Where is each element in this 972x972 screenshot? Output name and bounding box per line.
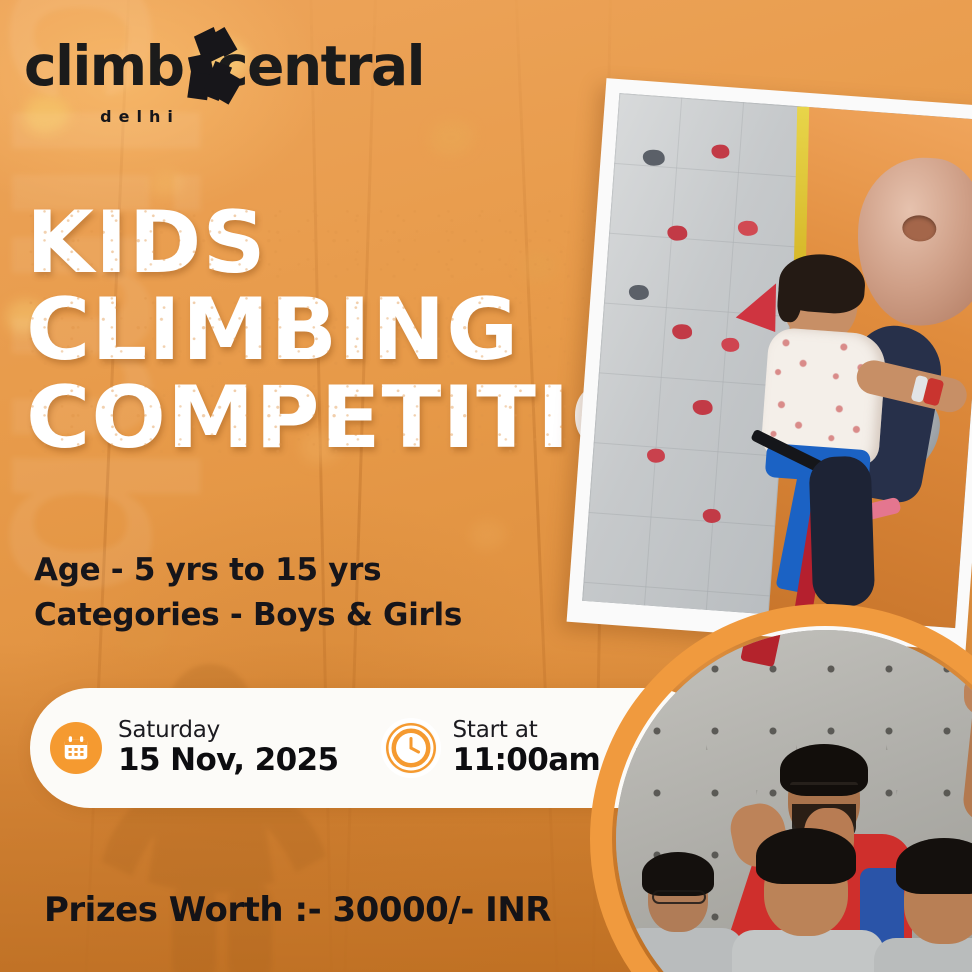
info-block-date: Saturday 15 Nov, 2025 <box>50 718 339 778</box>
prizes-text: Prizes Worth :- 30000/- INR <box>44 890 551 930</box>
kid-shirt <box>620 928 744 972</box>
logo-word-central: central <box>216 39 424 94</box>
photo2-kid <box>620 850 740 972</box>
photo-kids-group-image: akriti <box>616 630 972 972</box>
photo-child-climbing-wall <box>567 78 972 651</box>
climb-central-k-mark-icon <box>184 29 215 103</box>
kid-shirt <box>874 938 972 972</box>
child-leg-lower <box>808 456 875 608</box>
kid-hair <box>756 828 856 884</box>
kid-shirt <box>732 930 884 972</box>
clock-icon <box>385 722 437 774</box>
kid-glasses <box>652 890 706 904</box>
calendar-icon <box>50 722 102 774</box>
photo-child-climbing-wall-image <box>582 93 972 628</box>
date-label: Saturday <box>118 717 220 743</box>
logo-word-climb: climb <box>24 39 184 94</box>
kid-hair <box>896 838 972 894</box>
headline-line-1: KIDS <box>26 205 638 282</box>
event-details: Age - 5 yrs to 15 yrs Categories - Boys … <box>34 548 462 638</box>
detail-categories: Categories - Boys & Girls <box>34 593 462 638</box>
headline-line-3: COMPETITION <box>26 380 638 457</box>
date-value: 15 Nov, 2025 <box>118 743 339 778</box>
brand-logo[interactable]: climb central delhi <box>24 34 424 126</box>
poster-canvas: climb climb central delhi KIDS CLIMBING <box>0 0 972 972</box>
time-label: Start at <box>453 717 538 743</box>
photo2-kid <box>728 826 886 972</box>
logo-sublabel-delhi: delhi <box>24 107 256 126</box>
photo-kids-group-celebrating: akriti <box>616 630 972 972</box>
photo2-kid <box>874 836 972 972</box>
info-text-date: Saturday 15 Nov, 2025 <box>118 718 339 778</box>
detail-age: Age - 5 yrs to 15 yrs <box>34 548 462 593</box>
photo1-climbing-child <box>748 255 962 598</box>
logo-row: climb central <box>24 34 424 98</box>
coach-glasses <box>790 782 858 796</box>
headline-line-2: CLIMBING <box>26 292 638 369</box>
page-title: KIDS CLIMBING COMPETITION <box>26 205 626 457</box>
